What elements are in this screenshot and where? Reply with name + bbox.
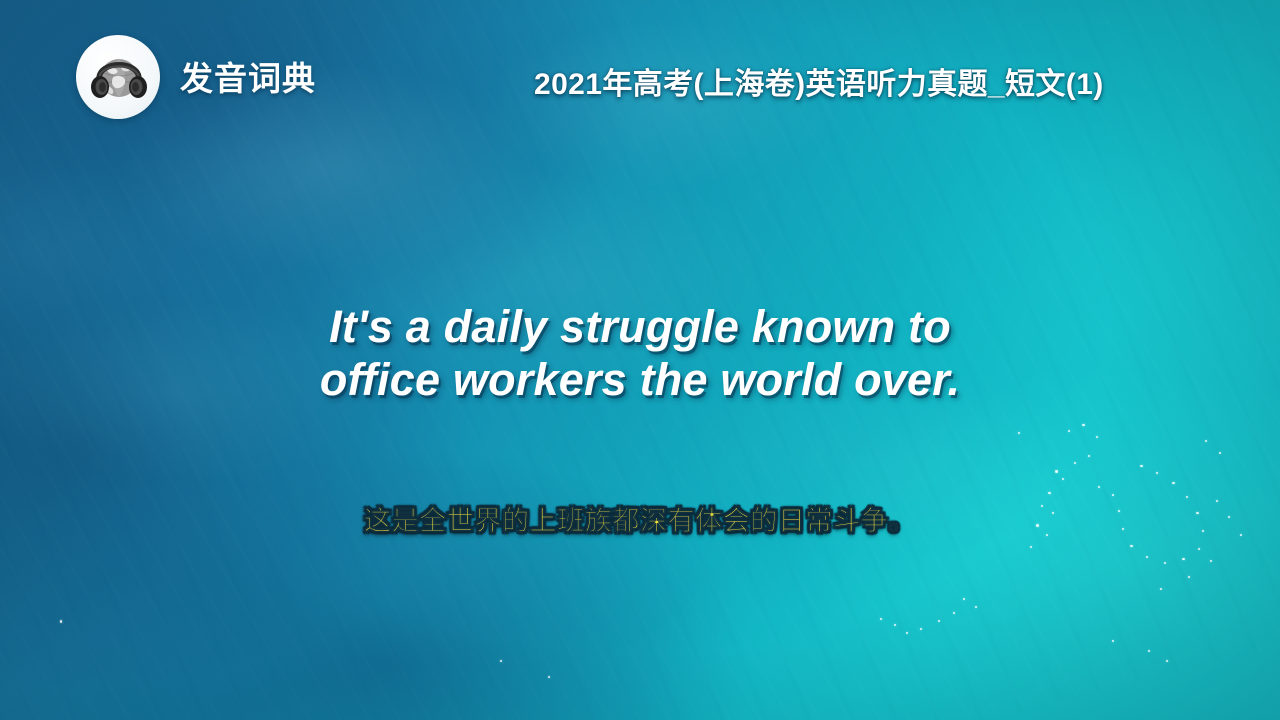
video-frame: 发音词典 2021年高考(上海卷)英语听力真题_短文(1) It's a dai… (0, 0, 1280, 720)
subtitle-english-line-2: office workers the world over. (0, 353, 1280, 406)
headphones-globe-icon (86, 45, 150, 109)
channel-name: 发音词典 (180, 62, 316, 95)
subtitle-chinese: 这是全世界的上班族都深有体会的日常斗争。 (0, 505, 1280, 537)
channel-logo-badge[interactable] (76, 35, 160, 119)
subtitle-english: It's a daily struggle known to office wo… (0, 300, 1280, 406)
subtitle-english-line-1: It's a daily struggle known to (0, 300, 1280, 353)
episode-title: 2021年高考(上海卷)英语听力真题_短文(1) (534, 70, 1104, 100)
